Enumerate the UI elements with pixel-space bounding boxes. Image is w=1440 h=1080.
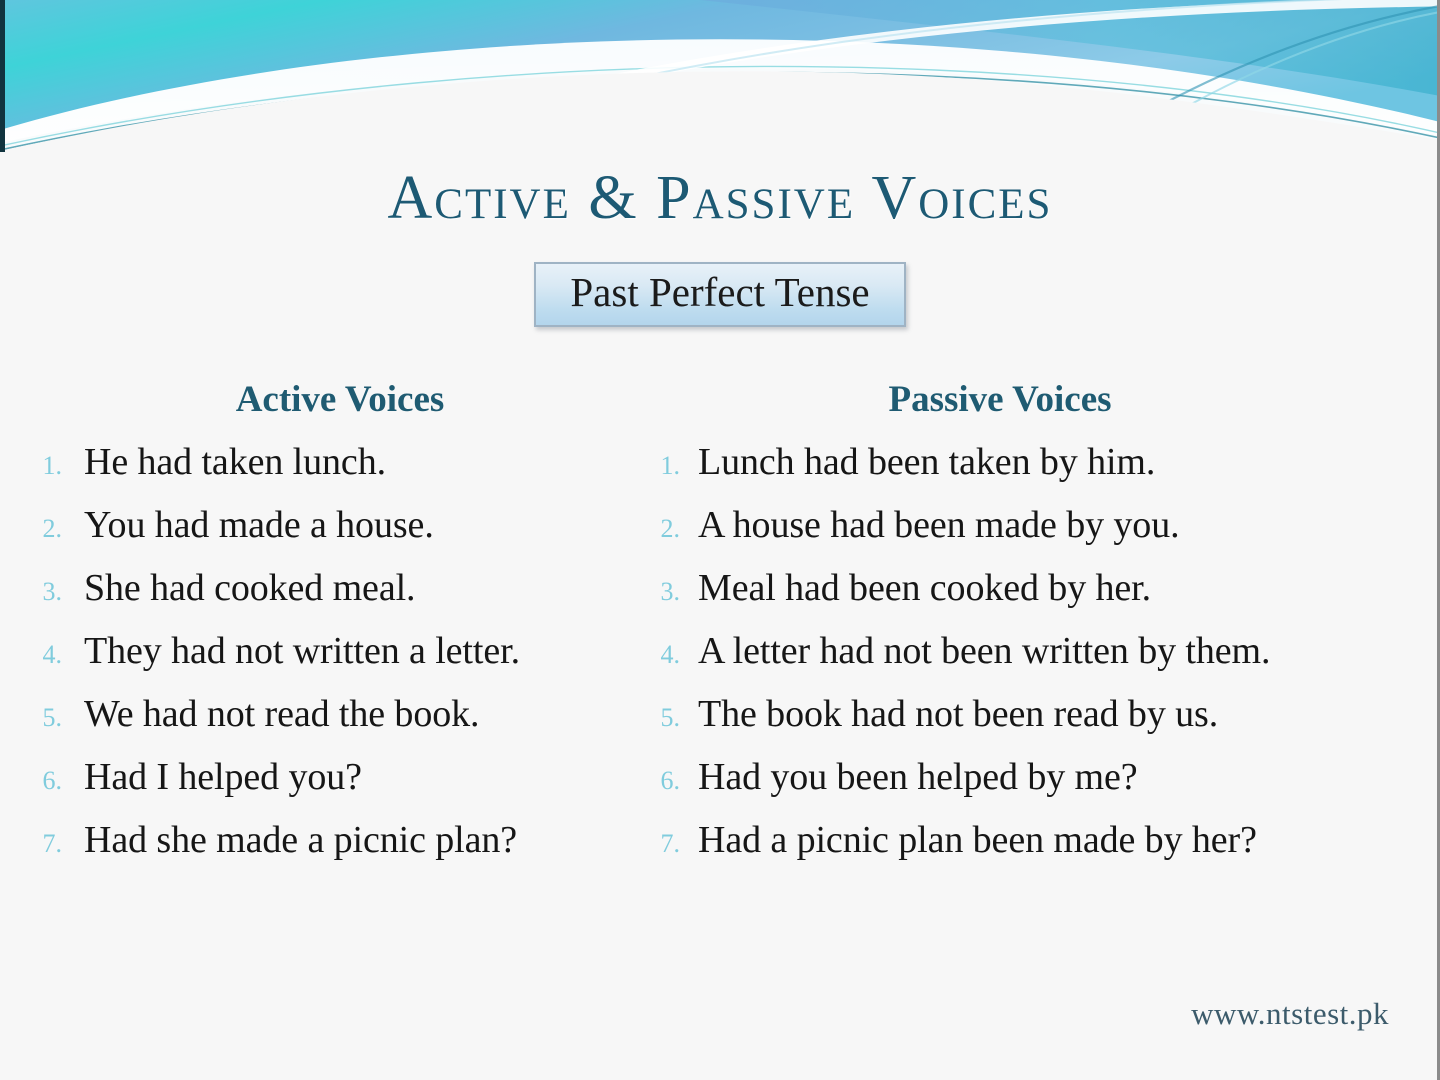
footer-website-url: www.ntstest.pk <box>1191 996 1389 1032</box>
list-item-number: 7. <box>14 829 66 859</box>
tense-label-box: Past Perfect Tense <box>534 262 905 327</box>
list-item: 2. You had made a house. <box>14 503 639 566</box>
list-item-text: A letter had not been written by them. <box>684 629 1432 673</box>
page-title: Active & Passive Voices <box>0 163 1440 234</box>
list-item-text: The book had not been read by us. <box>684 692 1432 736</box>
list-item-number: 4. <box>632 640 684 670</box>
list-item-number: 5. <box>14 703 66 733</box>
list-item: 3. She had cooked meal. <box>14 566 639 629</box>
wave-graphic <box>0 0 1440 152</box>
list-item-text: Lunch had been taken by him. <box>684 440 1432 484</box>
list-item: 1. He had taken lunch. <box>14 440 639 503</box>
list-item-number: 2. <box>632 514 684 544</box>
column-header-passive: Passive Voices <box>690 378 1310 421</box>
list-item: 4. They had not written a letter. <box>14 629 639 692</box>
list-item-text: We had not read the book. <box>66 692 639 736</box>
list-item-text: They had not written a letter. <box>66 629 639 673</box>
list-item-text: Had you been helped by me? <box>684 755 1432 799</box>
list-item: 4. A letter had not been written by them… <box>632 629 1432 692</box>
list-item-text: Had she made a picnic plan? <box>66 818 639 862</box>
list-item-number: 5. <box>632 703 684 733</box>
list-item: 6. Had you been helped by me? <box>632 755 1432 818</box>
list-item: 1. Lunch had been taken by him. <box>632 440 1432 503</box>
list-item-text: Had I helped you? <box>66 755 639 799</box>
passive-voices-list: 1. Lunch had been taken by him. 2. A hou… <box>632 440 1432 881</box>
slide-canvas: Active & Passive Voices Past Perfect Ten… <box>0 0 1440 1080</box>
subtitle-container: Past Perfect Tense <box>0 262 1440 327</box>
list-item: 5. The book had not been read by us. <box>632 692 1432 755</box>
list-item: 7. Had she made a picnic plan? <box>14 818 639 881</box>
list-item: 5. We had not read the book. <box>14 692 639 755</box>
list-item-number: 6. <box>632 766 684 796</box>
list-item-number: 2. <box>14 514 66 544</box>
list-item: 3. Meal had been cooked by her. <box>632 566 1432 629</box>
list-item-text: Had a picnic plan been made by her? <box>684 818 1432 862</box>
list-item-text: Meal had been cooked by her. <box>684 566 1432 610</box>
list-item-number: 3. <box>14 577 66 607</box>
list-item-number: 1. <box>14 451 66 481</box>
list-item-number: 6. <box>14 766 66 796</box>
list-item-text: He had taken lunch. <box>66 440 639 484</box>
list-item-text: You had made a house. <box>66 503 639 547</box>
list-item-number: 3. <box>632 577 684 607</box>
list-item: 6. Had I helped you? <box>14 755 639 818</box>
list-item-number: 1. <box>632 451 684 481</box>
list-item: 7. Had a picnic plan been made by her? <box>632 818 1432 881</box>
column-header-active: Active Voices <box>60 378 620 421</box>
header-wave-banner <box>0 0 1440 152</box>
list-item-number: 4. <box>14 640 66 670</box>
banner-left-edge-accent <box>0 0 5 152</box>
list-item-text: A house had been made by you. <box>684 503 1432 547</box>
list-item-number: 7. <box>632 829 684 859</box>
list-item: 2. A house had been made by you. <box>632 503 1432 566</box>
active-voices-list: 1. He had taken lunch. 2. You had made a… <box>14 440 639 881</box>
list-item-text: She had cooked meal. <box>66 566 639 610</box>
